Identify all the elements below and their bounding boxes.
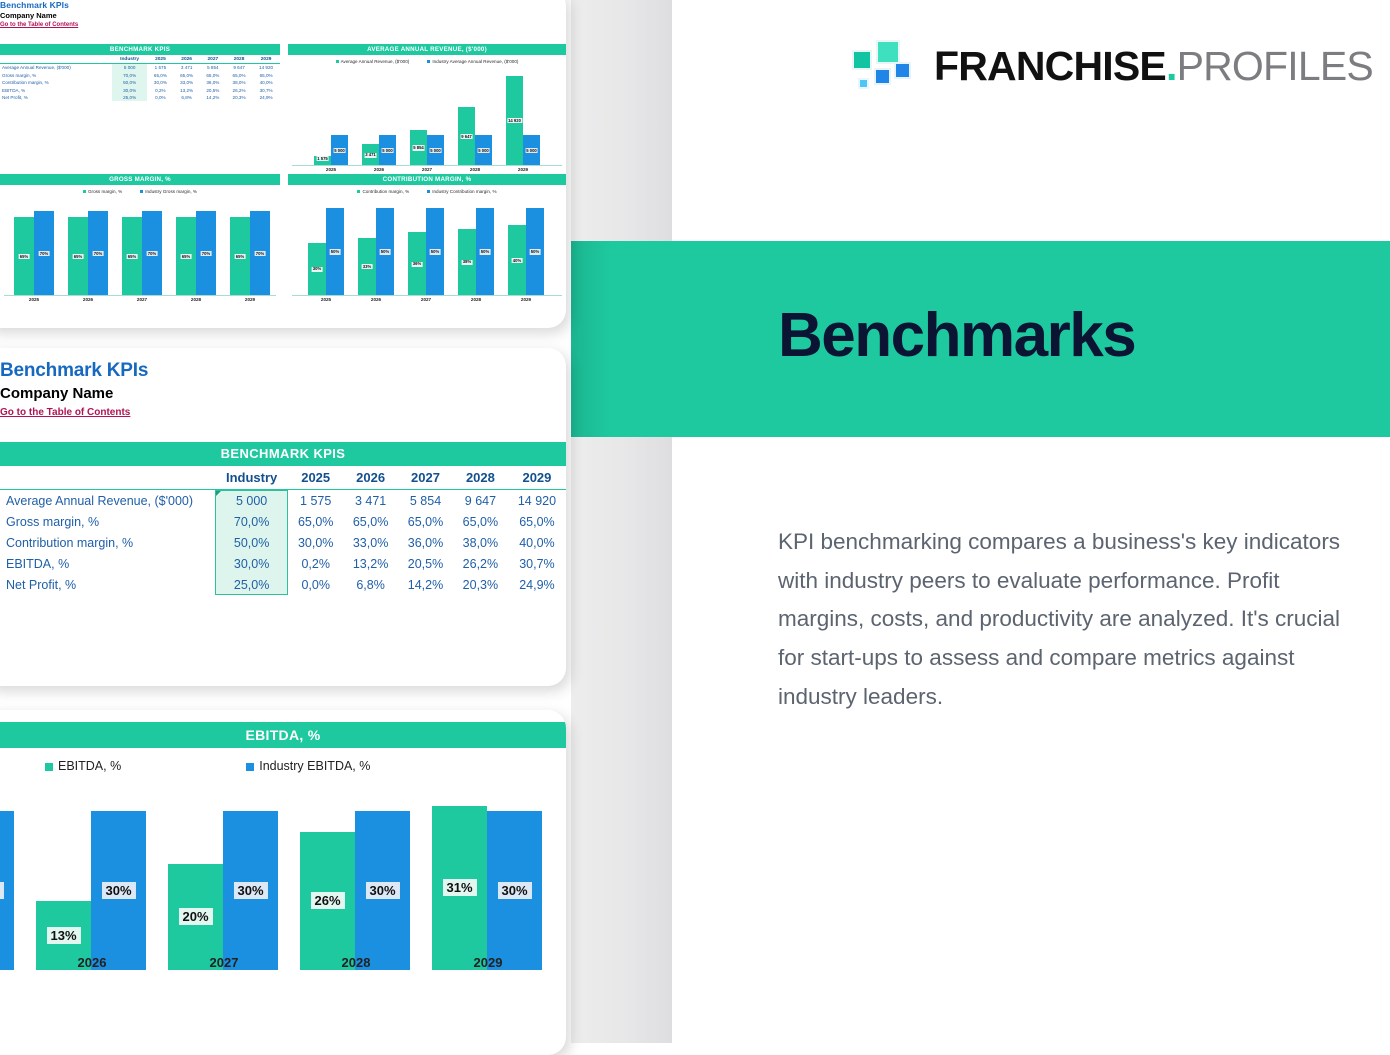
cell-2027[interactable]: 14,2% [398,574,453,595]
bar-label: 50% [330,249,341,254]
cell-2028[interactable]: 9 647 [453,490,508,512]
bar-2025-series0: 1 575 [314,156,331,165]
bar-2025-series1: 5 000 [331,135,348,165]
bar-label: 50% [380,249,391,254]
bar-label: 5 000 [525,148,538,153]
cell-industry[interactable]: 30,0% [112,86,147,93]
cell-2029[interactable]: 65,0% [508,511,566,532]
right-white-panel [672,0,1390,1043]
cell-2027[interactable]: 5 854 [200,64,226,72]
cell-2025[interactable]: 0,0% [288,574,343,595]
worksheet-card-overview[interactable]: Benchmark KPIs Company Name Go to the Ta… [0,0,566,328]
mini-legend-item-1: Industry Gross margin, % [140,189,197,194]
mini-chart-gross-margin: GROSS MARGIN, % Gross margin, % Industry… [0,174,280,296]
bar-group-2026: 65%70%2026 [68,211,108,295]
table-row[interactable]: Gross margin, %70,0%65,0%65,0%65,0%65,0%… [0,72,280,79]
bar-label: 30% [497,882,531,899]
bar-2027-series0: 5 854 [410,130,427,165]
x-axis-label-2026: 2026 [83,297,93,302]
cell-industry[interactable]: 70,0% [215,511,288,532]
mini-th-1: Industry [112,55,147,64]
bar-label: 14 920 [507,118,522,123]
cell-industry[interactable]: 50,0% [112,79,147,86]
x-axis-label-2027: 2027 [421,297,431,302]
logo-square-5 [858,78,869,89]
table-of-contents-link[interactable]: Go to the Table of Contents [0,407,130,418]
row-label: Net Profit, % [0,94,112,101]
mini-th-2: 2025 [147,55,173,64]
cell-2029[interactable]: 40,0% [508,532,566,553]
table-row[interactable]: Net Profit, %25,0%0,0%6,8%14,2%20,3%24,9… [0,94,280,101]
bar-2029-series0: 40% [508,225,526,295]
bar-2028-series0: 65% [176,217,196,295]
mini-plot-revenue: 1 5755 00020253 4715 00020265 8545 00020… [292,70,562,166]
cell-2027[interactable]: 20,5% [200,86,226,93]
bar-label: 20% [178,908,212,925]
legend-swatch-blue-icon [140,190,143,193]
kpi-sheet: Benchmark KPIs Company Name Go to the Ta… [0,360,566,595]
cell-2026[interactable]: 65,0% [174,72,200,79]
cell-2027[interactable]: 36,0% [200,79,226,86]
bar-label: 36% [412,262,423,267]
bar-label: 30% [101,882,135,899]
x-axis-label-2029: 2029 [245,297,255,302]
bar-2029-series1: 70% [250,211,270,295]
cell-2028[interactable]: 20,3% [453,574,508,595]
bar-2028-series1: 30% [355,811,410,970]
bar-label: 70% [39,251,50,256]
bar-group-2029: 14 9205 0002029 [506,76,540,166]
bar-group-2027: 65%70%2027 [122,211,162,295]
x-axis-label-2029: 2029 [432,955,544,970]
bar-group-2026: 33%50%2026 [358,208,394,295]
ebitda-chart: EBITDA, % EBITDA, % Industry EBITDA, % 3… [0,722,566,1043]
bar-label: 38% [462,260,473,265]
bar-label: 3 471 [364,153,377,158]
th-2028: 2028 [453,466,508,490]
bar-group-2026: 3 4715 0002026 [362,135,396,165]
bar-2026-series0: 65% [68,217,88,295]
cell-2028[interactable]: 20,3% [226,94,252,101]
bar-group-2027: 20%30%2027 [168,811,278,970]
th-industry: Industry [215,466,288,490]
x-axis-label-2025: 2025 [29,297,39,302]
bar-group-2025: 65%70%2025 [14,211,54,295]
logo-square-1 [852,50,872,70]
bar-label: 50% [480,249,491,254]
row-label: Gross margin, % [0,72,112,79]
x-axis-label-2025: 2025 [0,955,16,970]
row-label: Average Annual Revenue, ($'000) [0,64,112,72]
x-axis-label-2028: 2028 [470,167,480,172]
x-axis-label-2026: 2026 [374,167,384,172]
company-name: Company Name [0,385,566,402]
kpi-table-wrapper: BENCHMARK KPIS Industry 2025 2026 2027 2… [0,442,566,595]
bar-group-2027: 36%50%2027 [408,208,444,295]
x-axis-label-2029: 2029 [521,297,531,302]
bar-2029-series0: 14 920 [506,76,523,166]
vertical-gray-band [571,0,672,1043]
mini-th-0 [0,55,112,64]
bar-2025-series1: 50% [326,208,344,295]
ebitda-plot-area: 30%202513%30%202620%30%202726%30%202831%… [0,787,566,1002]
table-row[interactable]: Net Profit, %25,0%0,0%6,8%14,2%20,3%24,9… [0,574,566,595]
kpi-table-title: BENCHMARK KPIS [0,442,566,466]
bar-group-2028: 38%50%2028 [458,208,494,295]
bar-group-2029: 65%70%2029 [230,211,270,295]
bar-2026-series1: 5 000 [379,135,396,165]
cell-2026[interactable]: 6,8% [174,94,200,101]
table-header-row: Industry 2025 2026 2027 2028 2029 [0,466,566,490]
cell-2026[interactable]: 65,0% [343,511,398,532]
cell-2027[interactable]: 36,0% [398,532,453,553]
cell-2028[interactable]: 26,2% [453,553,508,574]
bar-2027-series1: 5 000 [427,135,444,165]
th-2029: 2029 [508,466,566,490]
x-axis-label-2027: 2027 [168,955,280,970]
bar-label: 13% [46,927,80,944]
bar-group-2027: 5 8545 0002027 [410,130,444,165]
bar-label: 5 000 [429,148,442,153]
mini-legend-gross: Gross margin, % Industry Gross margin, % [0,189,280,194]
row-label: Net Profit, % [0,574,215,595]
cell-2028[interactable]: 9 647 [226,64,252,72]
cell-2027[interactable]: 14,2% [200,94,226,101]
mini-chart-title-contrib: CONTRIBUTION MARGIN, % [288,174,566,185]
ebitda-chart-title: EBITDA, % [0,722,566,748]
bar-2028-series1: 5 000 [475,135,492,165]
x-axis-label-2028: 2028 [300,955,412,970]
bar-label: 65% [73,254,84,259]
bar-2029-series1: 50% [526,208,544,295]
mini-table-header-row: Industry 2025 2026 2027 2028 2029 [0,55,280,64]
legend-swatch-blue-icon [427,60,430,63]
bar-group-2026: 13%30%2026 [36,811,146,970]
page-title: Benchmark KPIs [0,360,566,382]
bar-label: 65% [127,254,138,259]
cell-2026[interactable]: 13,2% [174,86,200,93]
x-axis-label-2028: 2028 [191,297,201,302]
bar-label: 70% [147,251,158,256]
cell-2028[interactable]: 26,2% [226,86,252,93]
bar-2026-series1: 50% [376,208,394,295]
mini-chart-title-revenue: AVERAGE ANNUAL REVENUE, ($'000) [288,44,566,55]
mini-th-3: 2026 [174,55,200,64]
mini-th-4: 2027 [200,55,226,64]
bar-2029-series1: 5 000 [523,135,540,165]
cell-2025[interactable]: 1 575 [288,490,343,512]
bar-group-2025: 30%2025 [0,811,14,970]
cell-2026[interactable]: 33,0% [174,79,200,86]
legend-swatch-green-icon [357,190,360,193]
bar-2027-series0: 65% [122,217,142,295]
mini-kpi-table-title: BENCHMARK KPIS [0,44,280,55]
th-metric [0,466,215,490]
bar-group-2029: 40%50%2029 [508,208,544,295]
green-band-shadow [571,241,611,437]
cell-industry[interactable]: 25,0% [112,94,147,101]
slide-paragraph: KPI benchmarking compares a business's k… [778,523,1356,716]
x-axis-label-2029: 2029 [518,167,528,172]
mini-legend-revenue: Average Annual Revenue, ($'000) Industry… [288,59,566,64]
bar-group-2028: 26%30%2028 [300,811,410,970]
bar-2029-series1: 30% [487,811,542,970]
worksheet-card-kpi-table[interactable]: Benchmark KPIs Company Name Go to the Ta… [0,348,566,686]
bar-2029-series0: 31% [432,806,487,970]
cell-industry[interactable]: 70,0% [112,72,147,79]
mini-kpi-table-panel: BENCHMARK KPIS Industry 2025 2026 2027 2… [0,44,280,101]
th-2026: 2026 [343,466,398,490]
table-row[interactable]: Average Annual Revenue, ($'000)5 0001 57… [0,490,566,512]
bar-label: 30% [0,882,4,899]
bar-group-2028: 65%70%2028 [176,211,216,295]
cell-industry[interactable]: 50,0% [215,532,288,553]
bar-label: 70% [201,251,212,256]
cell-2026[interactable]: 33,0% [343,532,398,553]
cell-2025[interactable]: 30,0% [147,79,173,86]
bar-label: 70% [255,251,266,256]
logo-word-primary: FRANCHISE [934,43,1166,89]
bar-label: 65% [181,254,192,259]
mini-th-5: 2028 [226,55,252,64]
cell-2028[interactable]: 38,0% [226,79,252,86]
bar-2027-series0: 36% [408,232,426,295]
franchise-profiles-logo[interactable]: FRANCHISE.PROFILES [852,40,1373,92]
bar-label: 31% [442,879,476,896]
bar-label: 5 854 [412,145,425,150]
cell-2029[interactable]: 24,9% [508,574,566,595]
cell-2029[interactable]: 24,9% [252,94,280,101]
mini-legend-item-1: Industry Contribution margin, % [427,189,496,194]
cell-industry[interactable]: 25,0% [215,574,288,595]
ebitda-legend: EBITDA, % Industry EBITDA, % [0,759,566,773]
row-label: Contribution margin, % [0,79,112,86]
mini-chart-average-annual-revenue: AVERAGE ANNUAL REVENUE, ($'000) Average … [288,44,566,166]
mini-kpi-table: Industry 2025 2026 2027 2028 2029 Averag… [0,55,280,101]
cell-2025[interactable]: 0,0% [147,94,173,101]
table-row[interactable]: Gross margin, %70,0%65,0%65,0%65,0%65,0%… [0,511,566,532]
slide-title: Benchmarks [778,305,1135,367]
cell-2029[interactable]: 30,7% [508,553,566,574]
cell-2025[interactable]: 30,0% [288,532,343,553]
x-axis-label-2026: 2026 [36,955,148,970]
bar-label: 50% [430,249,441,254]
mini-plot-contribution-margin: 30%50%202533%50%202636%50%202738%50%2028… [292,200,562,296]
th-2027: 2027 [398,466,453,490]
row-label: Gross margin, % [0,511,215,532]
kpi-table[interactable]: Industry 2025 2026 2027 2028 2029 Averag… [0,466,566,595]
bar-label: 65% [19,254,30,259]
cell-industry[interactable]: 5 000 [112,64,147,72]
bar-2028-series0: 9 647 [458,107,475,165]
bar-2025-series0: 65% [14,217,34,295]
bar-label: 1 575 [316,156,329,161]
worksheet-card-ebitda-chart[interactable]: EBITDA, % EBITDA, % Industry EBITDA, % 3… [0,710,566,1055]
cell-2025[interactable]: 0,2% [147,86,173,93]
bar-group-2025: 30%50%2025 [308,208,344,295]
bar-label: 5 000 [333,148,346,153]
bar-label: 5 000 [477,148,490,153]
mini-legend-item-0: Contribution margin, % [357,189,409,194]
logo-square-3 [874,68,891,85]
legend-swatch-blue-icon [427,190,430,193]
bar-label: 70% [93,251,104,256]
bar-2028-series0: 38% [458,229,476,295]
cell-2025[interactable]: 0,2% [288,553,343,574]
cell-2027[interactable]: 65,0% [200,72,226,79]
bar-label: 50% [530,249,541,254]
bar-label: 30% [365,882,399,899]
cell-2026[interactable]: 3 471 [343,490,398,512]
cell-2027[interactable]: 5 854 [398,490,453,512]
bar-2029-series0: 65% [230,217,250,295]
x-axis-label-2025: 2025 [326,167,336,172]
table-row[interactable]: EBITDA, %30,0%0,2%13,2%20,5%26,2%30,7% [0,86,280,93]
cell-2029[interactable]: 14 920 [508,490,566,512]
logo-word-secondary: PROFILES [1177,43,1373,89]
bar-2026-series1: 30% [91,811,146,970]
ebitda-legend-item-series: EBITDA, % [45,759,121,773]
bar-2025-series0: 30% [308,243,326,295]
mini-sheet-heading: Benchmark KPIs [0,0,566,10]
row-label: Average Annual Revenue, ($'000) [0,490,215,512]
logo-dot: . [1166,43,1177,89]
bar-label: 5 000 [381,148,394,153]
cell-2025[interactable]: 1 575 [147,64,173,72]
row-label: EBITDA, % [0,86,112,93]
bar-2025-series1: 30% [0,811,14,970]
cell-2025[interactable]: 65,0% [147,72,173,79]
x-axis-label-2028: 2028 [471,297,481,302]
mini-legend-item-0: Gross margin, % [83,189,122,194]
logo-wordmark: FRANCHISE.PROFILES [934,46,1373,87]
th-2025: 2025 [288,466,343,490]
row-label: EBITDA, % [0,553,215,574]
legend-swatch-green-icon [336,60,339,63]
mini-th-6: 2029 [252,55,280,64]
mini-legend-item-0: Average Annual Revenue, ($'000) [336,59,410,64]
logo-square-2 [876,40,900,64]
bar-label: 33% [362,264,373,269]
cell-2028[interactable]: 65,0% [226,72,252,79]
mini-chart-contribution-margin: CONTRIBUTION MARGIN, % Contribution marg… [288,174,566,296]
cell-2027[interactable]: 65,0% [398,511,453,532]
bar-2028-series1: 70% [196,211,216,295]
cell-2026[interactable]: 6,8% [343,574,398,595]
x-axis-label-2025: 2025 [321,297,331,302]
mini-toc-link[interactable]: Go to the Table of Contents [0,22,566,28]
mini-legend-contrib: Contribution margin, % Industry Contribu… [288,189,566,194]
cell-industry[interactable]: 30,0% [215,553,288,574]
bar-label: 40% [512,258,523,263]
bar-group-2025: 1 5755 0002025 [314,135,348,165]
table-row[interactable]: Contribution margin, %50,0%30,0%33,0%36,… [0,532,566,553]
mini-chart-title-gross: GROSS MARGIN, % [0,174,280,185]
bar-group-2028: 9 6475 0002028 [458,107,492,165]
bar-2027-series1: 50% [426,208,444,295]
x-axis-label-2026: 2026 [371,297,381,302]
cell-2028[interactable]: 65,0% [453,511,508,532]
cell-2029[interactable]: 30,7% [252,86,280,93]
cell-2026[interactable]: 3 471 [174,64,200,72]
table-row[interactable]: Contribution margin, %50,0%30,0%33,0%36,… [0,79,280,86]
table-row[interactable]: Average Annual Revenue, ($'000)5 0001 57… [0,64,280,72]
x-axis-label-2027: 2027 [137,297,147,302]
mini-plot-gross-margin: 65%70%202565%70%202665%70%202765%70%2028… [4,200,276,296]
cell-2028[interactable]: 38,0% [453,532,508,553]
cell-2026[interactable]: 13,2% [343,553,398,574]
bar-2027-series1: 30% [223,811,278,970]
cell-2029[interactable]: 14 920 [252,64,280,72]
bar-2026-series0: 3 471 [362,144,379,165]
legend-swatch-green-icon [83,190,86,193]
cell-industry[interactable]: 5 000 [215,490,288,512]
bar-2026-series1: 70% [88,211,108,295]
bar-2027-series1: 70% [142,211,162,295]
cell-2027[interactable]: 20,5% [398,553,453,574]
legend-swatch-blue-icon [246,763,254,771]
table-row[interactable]: EBITDA, %30,0%0,2%13,2%20,5%26,2%30,7% [0,553,566,574]
bar-2028-series1: 50% [476,208,494,295]
cell-2029[interactable]: 40,0% [252,79,280,86]
bar-2026-series0: 33% [358,238,376,296]
ebitda-legend-item-industry: Industry EBITDA, % [246,759,370,773]
row-label: Contribution margin, % [0,532,215,553]
mini-worksheet: Benchmark KPIs Company Name Go to the Ta… [0,0,566,316]
bar-2028-series0: 26% [300,832,355,970]
bar-group-2029: 31%30%2029 [432,806,542,970]
bar-2025-series1: 70% [34,211,54,295]
mini-sheet-subheading: Company Name [0,11,566,20]
bar-label: 65% [235,254,246,259]
logo-mark-squares-icon [852,40,914,92]
bar-label: 30% [233,882,267,899]
logo-square-4 [894,62,911,79]
cell-2029[interactable]: 65,0% [252,72,280,79]
bar-label: 26% [310,892,344,909]
x-axis-label-2027: 2027 [422,167,432,172]
bar-label: 30% [312,267,323,272]
bar-label: 9 647 [460,134,473,139]
legend-swatch-green-icon [45,763,53,771]
mini-legend-item-1: Industry Average Annual Revenue, ($'000) [427,59,518,64]
cell-2025[interactable]: 65,0% [288,511,343,532]
